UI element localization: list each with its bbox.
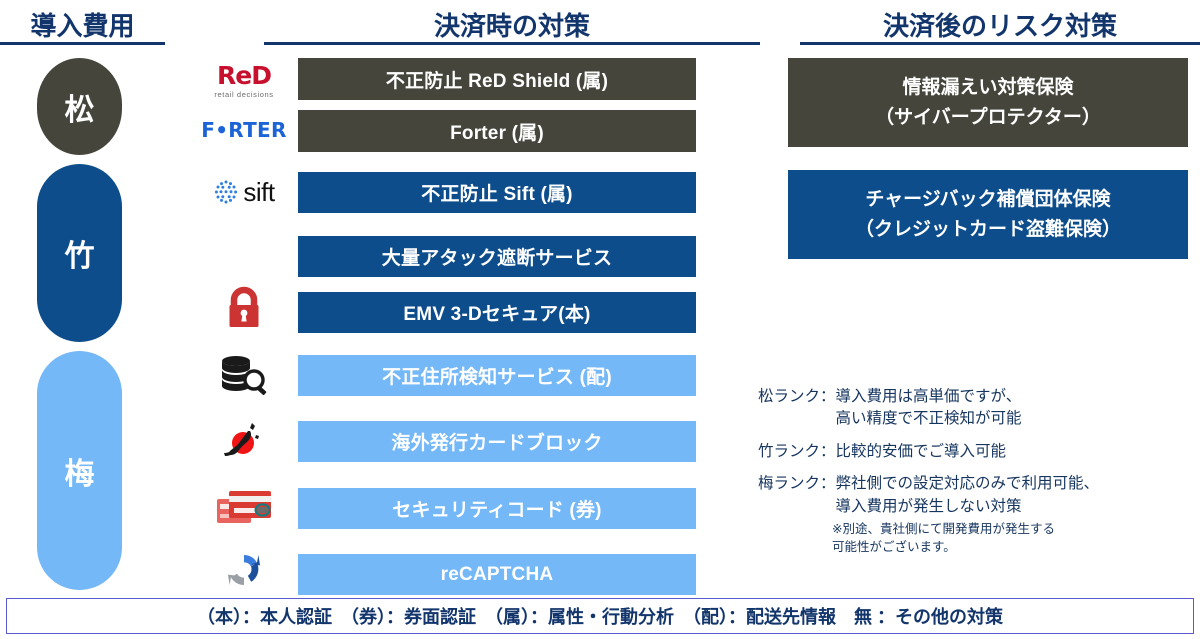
footer-legend-bar: （本）：本人認証 （券）：券面認証 （属）：属性・行動分析 （配）：配送先情報 … [6,598,1194,634]
column-rule-postrisk [800,42,1200,45]
credit-card-icon [215,487,273,529]
footer-legend-text: （本）：本人認証 （券）：券面認証 （属）：属性・行動分析 （配）：配送先情報 … [197,603,1003,629]
red-logo-subtitle: retail decisions [214,90,273,99]
logo-slot-forter: F•RTER [196,112,292,148]
forter-logo: F•RTER [201,120,286,140]
rank-oval-matsu: 松 [37,58,122,155]
risk-box-line1: チャージバック補償団体保険 [865,185,1110,214]
sift-logo: sift [213,179,274,205]
measure-bar-label: reCAPTCHA [441,564,554,586]
measure-bar-label: 不正防止 ReD Shield (属) [386,66,608,93]
measure-bar-label: EMV 3-Dセキュア(本) [403,299,590,326]
risk-box-cyber-protector[interactable]: 情報漏えい対策保険 （サイバープロテクター） [788,58,1188,147]
measure-bar-overseas-card-block[interactable]: 海外発行カードブロック [298,421,696,462]
logo-slot-red: ReD retail decisions [196,58,292,103]
measure-bar-label: 大量アタック遮断サービス [382,243,612,270]
rank-explanation-value: 弊社側での設定対応のみで利用可能、 導入費用が発生しない対策 [836,473,1100,518]
padlock-icon [221,285,267,331]
rank-explanation-key: 梅ランク： [758,473,836,518]
recaptcha-icon [223,549,265,591]
logo-slot-credit-card [196,484,292,532]
rank-explanation-key: 松ランク： [758,386,836,431]
sift-logo-word: sift [243,179,274,205]
japan-map-icon [220,418,268,466]
measure-bar-label: 海外発行カードブロック [391,428,602,455]
rank-explanation-key: 竹ランク： [758,441,836,463]
column-title-payment: 決済時の対策 [264,6,760,43]
slide-root: 導入費用 決済時の対策 決済後のリスク対策 松 竹 梅 ReD retail d… [0,0,1200,639]
measure-bar-forter[interactable]: Forter (属) [298,110,696,152]
risk-box-line2: （クレジットカード盗難保険） [855,215,1121,244]
column-title-cost: 導入費用 [0,6,165,43]
measure-bar-emv-3ds[interactable]: EMV 3-Dセキュア(本) [298,292,696,333]
red-logo-mark: ReD [214,63,273,88]
rank-explanation-value: 比較的安価でご導入可能 [836,441,1007,463]
sift-dots-icon [213,179,239,205]
column-title-postrisk: 決済後のリスク対策 [800,6,1200,43]
risk-box-chargeback-insurance[interactable]: チャージバック補償団体保険 （クレジットカード盗難保険） [788,170,1188,259]
rank-oval-take: 竹 [37,164,122,342]
rank-explanation-take: 竹ランク： 比較的安価でご導入可能 [758,441,1198,463]
rank-label-ume: 梅 [65,449,95,493]
measure-bar-label: Forter (属) [450,118,544,145]
column-rule-payment [264,42,760,45]
measure-bar-sift[interactable]: 不正防止 Sift (属) [298,172,696,213]
rank-explanation-block: 松ランク： 導入費用は高単価ですが、 高い精度で不正検知が可能 竹ランク： 比較… [758,386,1198,556]
rank-explanation-value: 導入費用は高単価ですが、 高い精度で不正検知が可能 [836,386,1022,431]
logo-slot-recaptcha [196,548,292,592]
rank-explanation-matsu: 松ランク： 導入費用は高単価ですが、 高い精度で不正検知が可能 [758,386,1198,431]
measure-bar-mass-attack-block[interactable]: 大量アタック遮断サービス [298,236,696,277]
rank-label-take: 竹 [65,231,95,275]
measure-bar-label: 不正防止 Sift (属) [421,179,572,206]
risk-box-line2: （サイバープロテクター） [875,103,1101,132]
measure-bar-recaptcha[interactable]: reCAPTCHA [298,554,696,595]
column-rule-cost [0,42,165,45]
logo-slot-sift: sift [196,172,292,212]
risk-box-line1: 情報漏えい対策保険 [902,73,1073,102]
measure-bar-label: 不正住所検知サービス (配) [382,362,612,389]
measure-bar-security-code[interactable]: セキュリティコード (券) [298,488,696,529]
logo-slot-padlock [196,284,292,332]
measure-bar-label: セキュリティコード (券) [392,495,601,522]
logo-slot-database-search [196,352,292,400]
rank-explanation-ume: 梅ランク： 弊社側での設定対応のみで利用可能、 導入費用が発生しない対策 [758,473,1198,518]
rank-explanation-footnote: ※別途、貴社側にて開発費用が発生する 可能性がございます。 [832,521,1198,556]
database-search-icon [218,353,270,399]
measure-bar-address-detection[interactable]: 不正住所検知サービス (配) [298,355,696,396]
logo-slot-japan-map [196,418,292,466]
rank-oval-ume: 梅 [37,351,122,590]
red-logo: ReD retail decisions [214,63,273,99]
rank-label-matsu: 松 [65,85,95,129]
measure-bar-red-shield[interactable]: 不正防止 ReD Shield (属) [298,58,696,100]
